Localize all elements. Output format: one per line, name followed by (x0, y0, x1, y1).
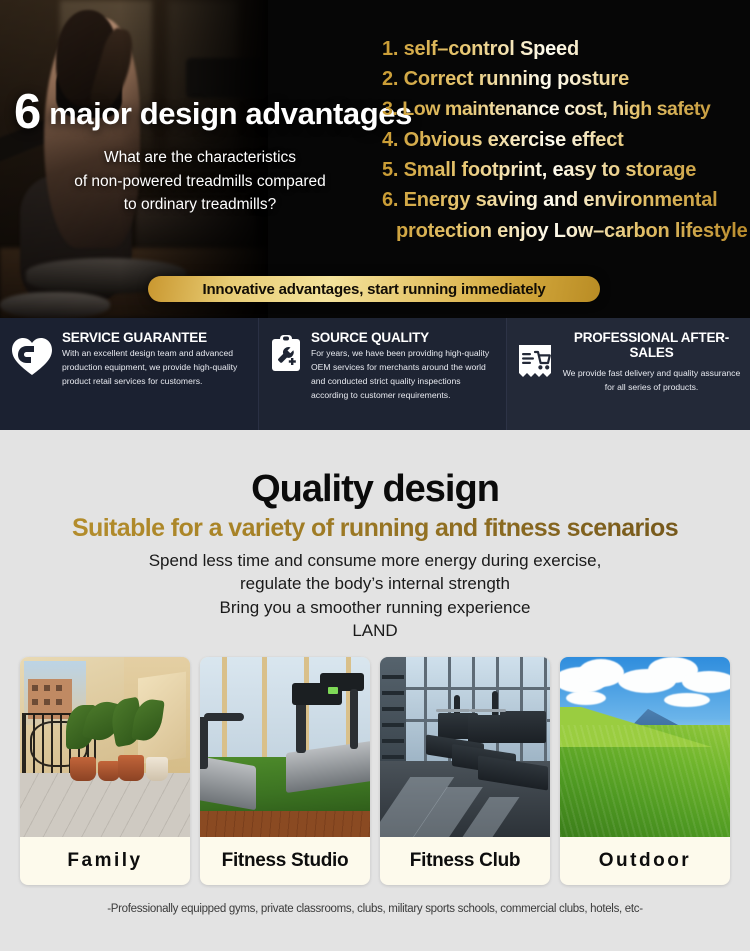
quality-line-2: regulate the body’s internal strength (0, 572, 750, 595)
service-card-professional-after-sales: PROFESSIONAL AFTER-SALES We provide fast… (506, 318, 750, 430)
scenario-cards: Family Fitness Studio (0, 643, 750, 888)
advantage-item-6-continued: protection enjoy Low–carbon lifestyle (382, 216, 750, 246)
service-bar: SERVICE GUARANTEE With an excellent desi… (0, 318, 750, 430)
quality-line-1: Spend less time and consume more energy … (0, 549, 750, 572)
advantage-item-5: 5. Small footprint, easy to storage (382, 155, 750, 185)
hero-title-text: major design advantages (41, 96, 412, 131)
advantage-item-3: 3. Low maintenance cost, high safety (382, 95, 750, 125)
hero-section: 6 major design advantages What are the c… (0, 0, 750, 318)
advantage-item-4: 4. Obvious exercise effect (382, 125, 750, 155)
advantage-item-2: 2. Correct running posture (382, 64, 750, 94)
advantages-list: 1. self–control Speed 2. Correct running… (382, 34, 750, 246)
service-title: SERVICE GUARANTEE (62, 330, 250, 345)
quality-heading: Quality design (0, 470, 750, 508)
quality-design-section: Quality design Suitable for a variety of… (0, 430, 750, 643)
scenario-footnote: -Professionally equipped gyms, private c… (0, 903, 750, 915)
hero-subtitle-line-2: of non-powered treadmills compared (40, 170, 360, 194)
innovative-advantages-banner: Innovative advantages, start running imm… (148, 276, 600, 302)
service-body: For years, we have been providing high-q… (311, 347, 498, 403)
hero-subtitle: What are the characteristics of non-powe… (40, 146, 360, 217)
green-hill-sky-photo (560, 657, 730, 837)
hero-subtitle-line-3: to ordinary treadmills? (40, 193, 360, 217)
scenario-card-fitness-studio[interactable]: Fitness Studio (200, 657, 370, 885)
innovative-advantages-banner-label: Innovative advantages, start running imm… (203, 281, 546, 298)
advantage-item-6: 6. Energy saving and environmental (382, 185, 750, 215)
quality-line-3: Bring you a smoother running experience (0, 596, 750, 619)
scenario-card-label: Outdoor (560, 837, 730, 885)
scenario-card-outdoor[interactable]: Outdoor (560, 657, 730, 885)
quality-subheading: Suitable for a variety of running and fi… (0, 514, 750, 543)
hero-subtitle-line-1: What are the characteristics (40, 146, 360, 170)
service-body: We provide fast delivery and quality ass… (561, 367, 742, 395)
receipt-cart-icon (517, 330, 561, 430)
service-card-source-quality: SOURCE QUALITY For years, we have been p… (258, 318, 506, 430)
scenario-card-label: Family (20, 837, 190, 885)
quality-line-4: LAND (0, 619, 750, 642)
service-title: SOURCE QUALITY (311, 330, 498, 345)
gym-treadmill-row-photo (380, 657, 550, 837)
hero-title: 6 major design advantages (14, 88, 412, 137)
advantage-item-1: 1. self–control Speed (382, 34, 750, 64)
clipboard-wrench-icon (269, 330, 311, 430)
heart-shield-icon (10, 330, 62, 430)
scenario-card-label: Fitness Club (380, 837, 550, 885)
scenario-card-label: Fitness Studio (200, 837, 370, 885)
service-title: PROFESSIONAL AFTER-SALES (561, 330, 742, 361)
service-body: With an excellent design team and advanc… (62, 347, 250, 389)
scenario-card-family[interactable]: Family (20, 657, 190, 885)
scenario-card-fitness-club[interactable]: Fitness Club (380, 657, 550, 885)
product-detail-page: 6 major design advantages What are the c… (0, 0, 750, 951)
service-card-service-guarantee: SERVICE GUARANTEE With an excellent desi… (0, 318, 258, 430)
quality-description: Spend less time and consume more energy … (0, 549, 750, 643)
balcony-with-plants-photo (20, 657, 190, 837)
studio-treadmills-photo (200, 657, 370, 837)
hero-title-number: 6 (14, 85, 41, 139)
